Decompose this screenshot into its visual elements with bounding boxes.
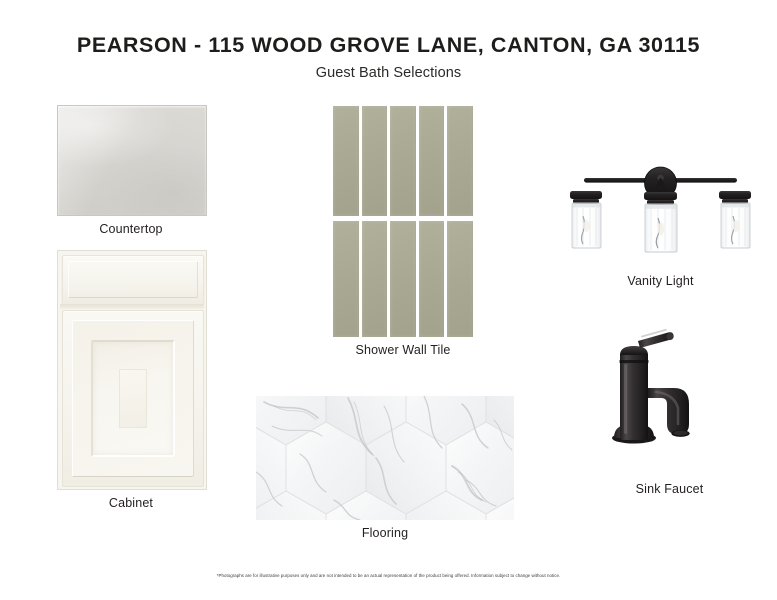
cabinet-door-bevel (91, 340, 175, 457)
selection-shower-wall-tile[interactable]: Shower Wall Tile (333, 106, 473, 357)
page-title: PEARSON - 115 WOOD GROVE LANE, CANTON, G… (0, 34, 777, 58)
selection-countertop[interactable]: Countertop (57, 105, 205, 236)
tile-piece (447, 106, 473, 216)
flooring-tile-image (256, 396, 514, 520)
selection-vanity-light[interactable]: Vanity Light (550, 158, 771, 288)
sink-faucet-image (598, 328, 741, 476)
cabinet-label: Cabinet (57, 496, 205, 510)
cabinet-drawer-front (62, 255, 204, 305)
tile-piece (390, 106, 416, 216)
selection-cabinet[interactable]: Cabinet (57, 250, 205, 510)
tile-piece (333, 106, 359, 216)
tile-piece (419, 106, 445, 216)
vanity-light-image (550, 158, 771, 268)
disclaimer-footnote: *Photographs are for illustrative purpos… (0, 573, 777, 578)
selections-board: PEARSON - 115 WOOD GROVE LANE, CANTON, G… (0, 0, 777, 600)
tile-piece (419, 221, 445, 337)
tile-piece (362, 221, 388, 337)
flooring-label: Flooring (256, 526, 514, 540)
hexagon-mosaic-graphic (256, 396, 514, 520)
sink-faucet-graphic (598, 328, 741, 476)
selection-flooring[interactable]: Flooring (256, 396, 514, 540)
cabinet-reveal-gap (60, 304, 204, 309)
shower-wall-tile-image (333, 106, 473, 337)
selection-sink-faucet[interactable]: Sink Faucet (598, 328, 741, 496)
countertop-swatch-image (57, 105, 207, 216)
page-subtitle: Guest Bath Selections (0, 65, 777, 81)
cabinet-door-rail (72, 320, 194, 477)
tile-piece (333, 221, 359, 337)
shower-wall-tile-label: Shower Wall Tile (333, 343, 473, 357)
tile-piece (362, 106, 388, 216)
cabinet-door-face (62, 310, 204, 487)
cabinet-door-image (57, 250, 207, 490)
vanity-light-graphic (550, 158, 771, 268)
cabinet-center-panel (119, 369, 147, 428)
countertop-label: Countertop (57, 222, 205, 236)
tile-piece (447, 221, 473, 337)
tile-piece (390, 221, 416, 337)
tile-row (333, 106, 473, 216)
board-header: PEARSON - 115 WOOD GROVE LANE, CANTON, G… (0, 34, 777, 81)
sink-faucet-label: Sink Faucet (598, 482, 741, 496)
tile-row (333, 221, 473, 337)
vanity-light-label: Vanity Light (550, 274, 771, 288)
